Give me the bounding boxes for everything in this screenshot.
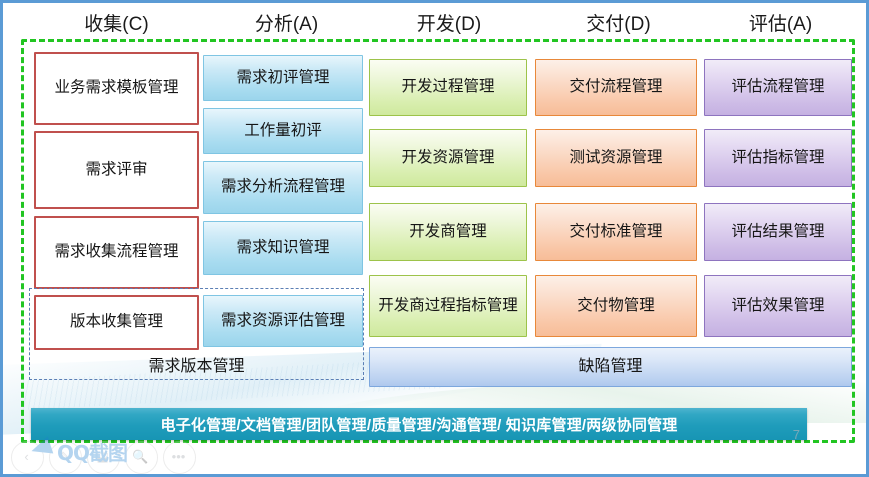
column-header-analyze: 分析(A) [199, 9, 374, 36]
collect-item-collection-process[interactable]: 需求收集流程管理 [34, 216, 199, 289]
back-icon [11, 441, 44, 474]
develop-item-vendor-process-metrics[interactable]: 开发商过程指标管理 [369, 275, 527, 337]
evaluate-item-effect[interactable]: 评估效果管理 [704, 275, 852, 337]
analyze-item-initial-review[interactable]: 需求初评管理 [203, 55, 363, 101]
foundation-capabilities-bar: 电子化管理/文档管理/团队管理/质量管理/沟通管理/ 知识库管理/两级协同管理 [31, 408, 807, 440]
page-number: 7 [793, 427, 800, 442]
defect-management-bar[interactable]: 缺陷管理 [369, 347, 852, 387]
deliver-item-test-resource[interactable]: 测试资源管理 [535, 129, 697, 187]
version-management-group-label: 需求版本管理 [29, 351, 364, 377]
column-header-collect: 收集(C) [29, 9, 204, 36]
develop-item-process[interactable]: 开发过程管理 [369, 59, 527, 116]
evaluate-item-result[interactable]: 评估结果管理 [704, 203, 852, 261]
column-header-develop: 开发(D) [369, 9, 529, 36]
back-glyph: ‹ [11, 441, 42, 472]
collect-item-business-requirement-template[interactable]: 业务需求模板管理 [34, 52, 199, 125]
column-header-evaluate: 评估(A) [703, 9, 858, 36]
more-icon [163, 441, 196, 474]
more-glyph: ••• [163, 441, 194, 472]
collect-item-requirement-review[interactable]: 需求评审 [34, 131, 199, 209]
pencil-icon [49, 441, 82, 474]
evaluate-item-metrics[interactable]: 评估指标管理 [704, 129, 852, 187]
develop-item-resource[interactable]: 开发资源管理 [369, 129, 527, 187]
analyze-item-analysis-process[interactable]: 需求分析流程管理 [203, 161, 363, 214]
column-header-deliver: 交付(D) [536, 9, 701, 36]
crop-icon [87, 441, 120, 474]
analyze-item-knowledge[interactable]: 需求知识管理 [203, 221, 363, 275]
magnifier-glyph: 🔍 [125, 441, 156, 472]
deliver-item-standard[interactable]: 交付标准管理 [535, 203, 697, 261]
deliver-item-deliverable[interactable]: 交付物管理 [535, 275, 697, 337]
pencil-glyph: ✎ [49, 441, 80, 472]
magnifier-icon [125, 441, 158, 474]
evaluate-item-process[interactable]: 评估流程管理 [704, 59, 852, 116]
slide-canvas: 收集(C) 分析(A) 开发(D) 交付(D) 评估(A) 业务需求模板管理 需… [0, 0, 869, 477]
deliver-item-process[interactable]: 交付流程管理 [535, 59, 697, 116]
screenshot-tool-watermark: ‹ ✎ ⬓ 🔍 ••• QQ截图 [9, 437, 224, 477]
crop-glyph: ⬓ [87, 441, 118, 472]
develop-item-vendor[interactable]: 开发商管理 [369, 203, 527, 261]
analyze-item-workload-estimate[interactable]: 工作量初评 [203, 108, 363, 154]
